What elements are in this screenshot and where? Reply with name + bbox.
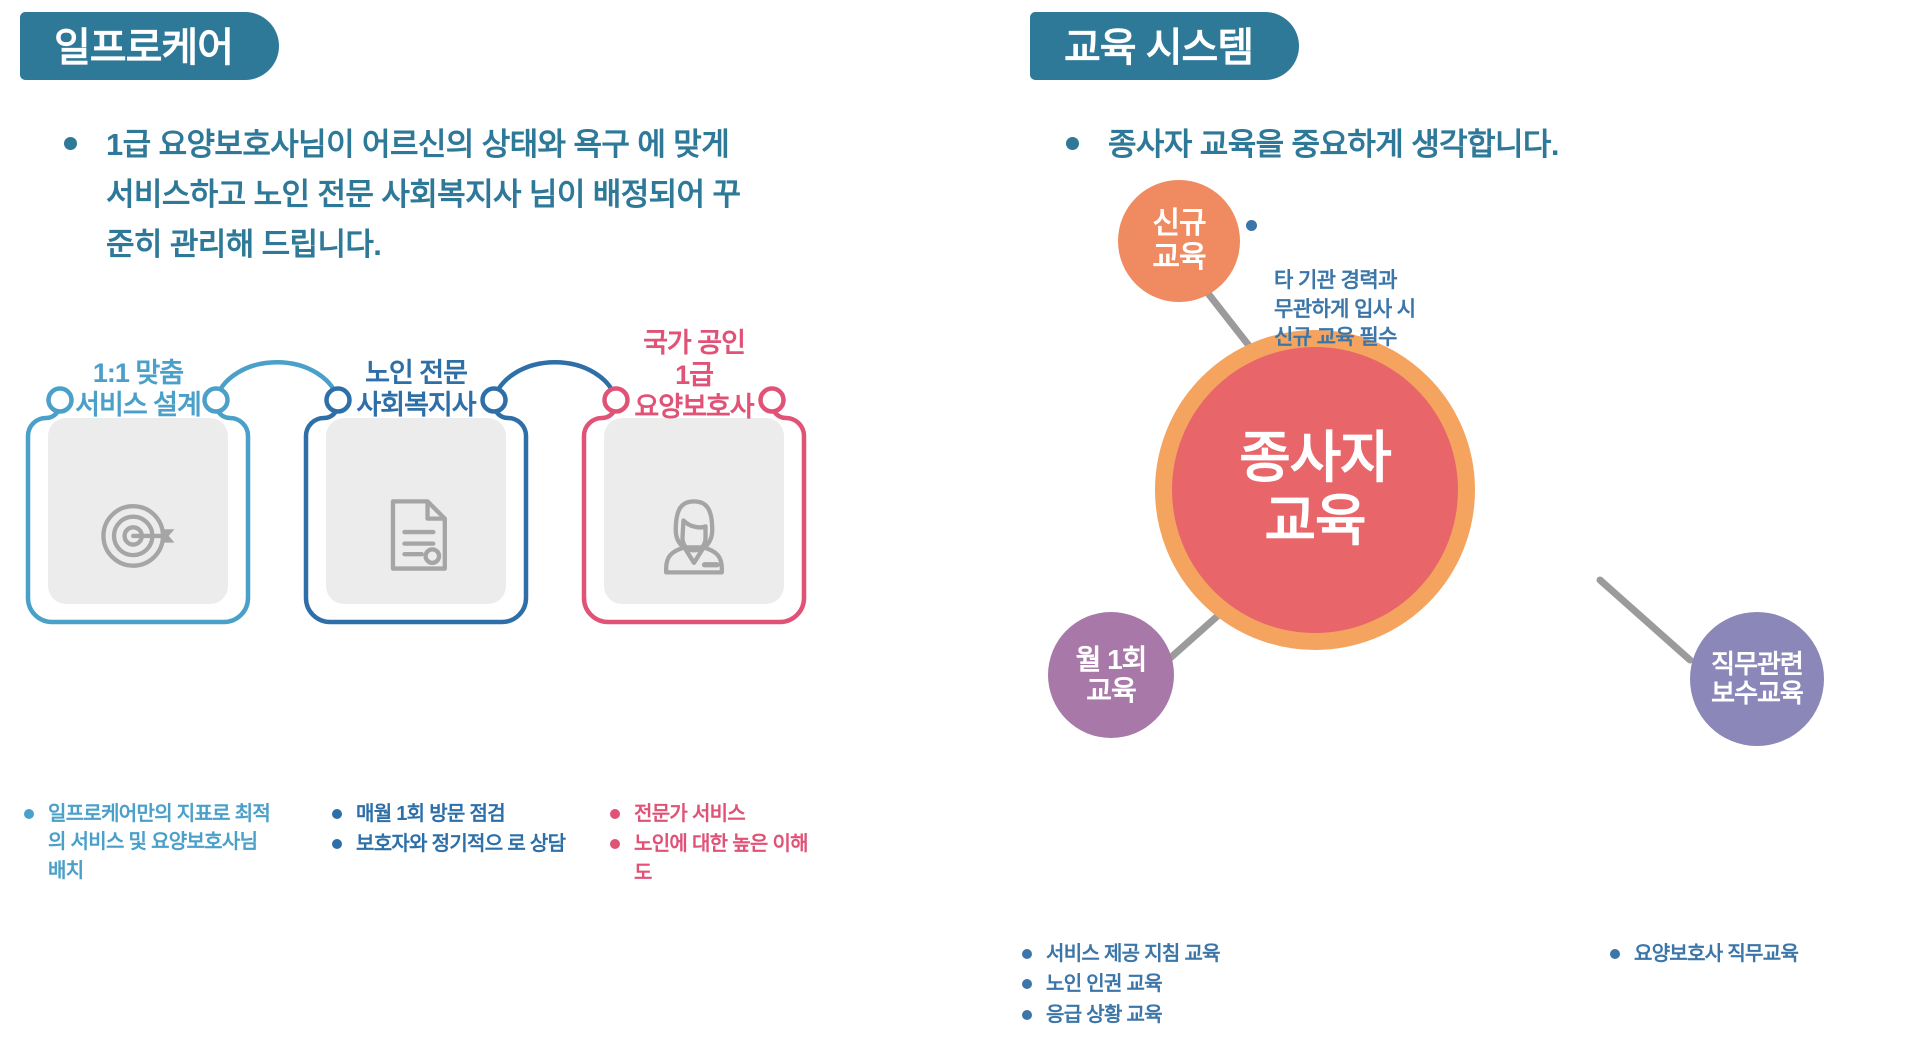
section-education-system: 교육 시스템 종사자 교육을 중요하게 생각합니다. 종사자 교육 신규 교육 … — [1000, 0, 1920, 1051]
node-job-related-education[interactable]: 직무관련 보수교육 — [1690, 612, 1824, 746]
document-icon — [368, 486, 464, 582]
section-ilprocare: 일프로케어 1급 요양보호사님이 어르신의 상태와 욕구 에 맞게 서비스하고 … — [0, 0, 1000, 1051]
credential-card-3-heading: 국가 공인 1급 요양보호사 — [584, 328, 804, 424]
credential-card-3-panel[interactable] — [604, 418, 784, 604]
list-item: 응급 상황 교육 — [1020, 1001, 1340, 1029]
node-new-label: 신규 교육 — [1152, 207, 1205, 274]
monthly-education-bullet-list: 서비스 제공 지침 교육 노인 인권 교육 응급 상황 교육 — [1020, 940, 1340, 1031]
card-1-bullet-list: 일프로케어만의 지표로 최적의 서비스 및 요양보호사님 배치 — [22, 800, 272, 887]
node-monthly-label: 월 1회 교육 — [1076, 644, 1147, 707]
list-item: 서비스 제공 지침 교육 — [1020, 940, 1340, 968]
caregiver-icon — [646, 486, 742, 582]
credential-card-2-heading: 노인 전문 사회복지사 — [306, 358, 526, 422]
lead-text-left: 1급 요양보호사님이 어르신의 상태와 욕구 에 맞게 서비스하고 노인 전문 … — [64, 120, 764, 271]
list-item: 매월 1회 방문 점검 — [330, 800, 570, 828]
list-item: 요양보호사 직무교육 — [1608, 940, 1868, 968]
lead-bullet-dot — [64, 137, 77, 150]
list-item: 노인 인권 교육 — [1020, 970, 1340, 998]
note-bullet-dot — [1246, 220, 1257, 231]
list-item: 일프로케어만의 지표로 최적의 서비스 및 요양보호사님 배치 — [22, 800, 272, 885]
target-icon — [90, 486, 186, 582]
connector-job-to-center — [1600, 580, 1690, 660]
lead-paragraph-left: 1급 요양보호사님이 어르신의 상태와 욕구 에 맞게 서비스하고 노인 전문 … — [64, 120, 764, 271]
credential-card-group: 1:1 맞춤 서비스 설계 노인 전문 사회복지사 국가 공인 1급 요양보호사 — [0, 390, 1000, 750]
list-item: 노인에 대한 높은 이해도 — [608, 830, 808, 887]
list-item: 보호자와 정기적으 로 상담 — [330, 830, 570, 858]
card-2-bullet-list: 매월 1회 방문 점검 보호자와 정기적으 로 상담 — [330, 800, 570, 861]
note-new-hire-text: 타 기관 경력과 무관하게 입사 시 신규 교육 필수 — [1246, 267, 1496, 353]
section-title-pill-left: 일프로케어 — [20, 12, 279, 80]
card-3-bullet-list: 전문가 서비스 노인에 대한 높은 이해도 — [608, 800, 808, 889]
node-new-hire-education[interactable]: 신규 교육 — [1118, 180, 1240, 302]
note-new-hire-education: 타 기관 경력과 무관하게 입사 시 신규 교육 필수 — [1246, 210, 1496, 381]
credential-card-1-heading: 1:1 맞춤 서비스 설계 — [28, 358, 248, 422]
credential-card-1-panel[interactable] — [48, 418, 228, 604]
credential-card-2-panel[interactable] — [326, 418, 506, 604]
node-monthly-education[interactable]: 월 1회 교육 — [1048, 612, 1174, 738]
section-title-left-label: 일프로케어 — [54, 15, 233, 73]
node-job-label: 직무관련 보수교육 — [1711, 650, 1803, 708]
list-item: 전문가 서비스 — [608, 800, 808, 828]
node-center-label: 종사자 교육 — [1239, 427, 1391, 552]
job-education-bullet-list: 요양보호사 직무교육 — [1608, 940, 1868, 970]
